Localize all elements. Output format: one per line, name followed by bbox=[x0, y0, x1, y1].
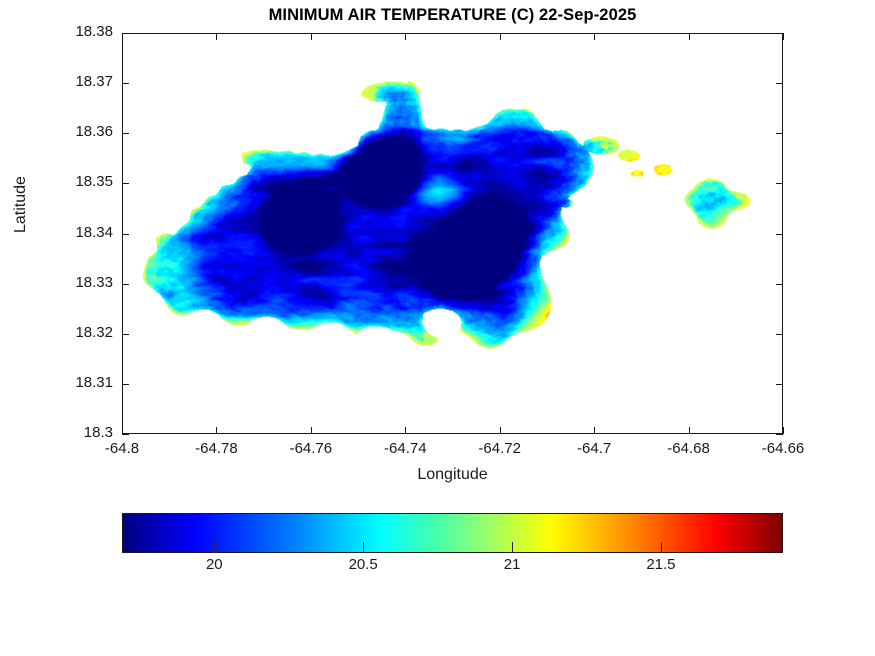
y-tick-mark bbox=[122, 334, 129, 335]
x-tick-mark bbox=[405, 33, 406, 40]
x-tick-mark bbox=[500, 33, 501, 40]
x-tick-mark bbox=[311, 33, 312, 40]
y-tick-mark bbox=[122, 183, 129, 184]
x-tick-mark bbox=[311, 427, 312, 434]
y-axis-label: Latitude bbox=[12, 176, 30, 233]
x-axis-label: Longitude bbox=[122, 466, 783, 484]
y-tick-mark bbox=[122, 384, 129, 385]
colorbar-tick-mark bbox=[214, 542, 215, 553]
y-tick-mark bbox=[776, 284, 783, 285]
y-tick-mark bbox=[776, 183, 783, 184]
y-tick-mark bbox=[122, 234, 129, 235]
temperature-heatmap bbox=[123, 34, 782, 433]
y-tick-mark bbox=[122, 284, 129, 285]
colorbar-gradient bbox=[122, 513, 783, 553]
x-tick-mark bbox=[216, 427, 217, 434]
x-tick-mark bbox=[689, 427, 690, 434]
page-title: MINIMUM AIR TEMPERATURE (C) 22-Sep-2025 bbox=[122, 6, 783, 25]
x-tick-mark bbox=[594, 33, 595, 40]
x-tick-mark bbox=[689, 33, 690, 40]
y-tick-mark bbox=[776, 384, 783, 385]
y-tick-mark bbox=[776, 434, 783, 435]
colorbar[interactable] bbox=[122, 513, 783, 553]
colorbar-tick-label: 21 bbox=[504, 556, 521, 573]
y-tick-mark bbox=[122, 33, 129, 34]
colorbar-tick-mark bbox=[512, 542, 513, 553]
colorbar-tick-mark bbox=[363, 542, 364, 553]
y-tick-mark bbox=[122, 133, 129, 134]
y-tick-mark bbox=[776, 334, 783, 335]
x-tick-mark bbox=[122, 33, 123, 40]
x-tick-mark bbox=[594, 427, 595, 434]
y-tick-mark bbox=[776, 133, 783, 134]
x-tick-mark bbox=[405, 427, 406, 434]
colorbar-tick-label: 20 bbox=[206, 556, 223, 573]
colorbar-tick-mark bbox=[661, 542, 662, 553]
x-tick-mark bbox=[122, 427, 123, 434]
map-axes[interactable] bbox=[122, 33, 783, 434]
x-tick-mark bbox=[216, 33, 217, 40]
y-tick-mark bbox=[776, 83, 783, 84]
x-tick-mark bbox=[783, 33, 784, 40]
colorbar-tick-label: 20.5 bbox=[349, 556, 378, 573]
x-tick-mark bbox=[500, 427, 501, 434]
y-tick-mark bbox=[122, 434, 129, 435]
matlab-figure: MINIMUM AIR TEMPERATURE (C) 22-Sep-2025 … bbox=[0, 0, 875, 656]
y-tick-mark bbox=[776, 234, 783, 235]
y-tick-mark bbox=[122, 83, 129, 84]
x-tick-mark bbox=[783, 427, 784, 434]
colorbar-tick-label: 21.5 bbox=[646, 556, 675, 573]
y-tick-mark bbox=[776, 33, 783, 34]
